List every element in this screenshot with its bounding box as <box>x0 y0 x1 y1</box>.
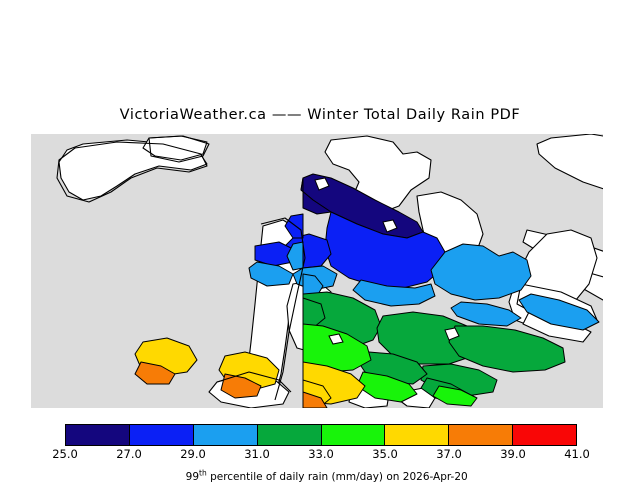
colorbar-segment-31.0-33.0[interactable] <box>258 425 322 445</box>
caption-suffix: percentile of daily rain (mm/day) on 202… <box>207 471 468 483</box>
caption-ordinal: th <box>199 469 207 478</box>
colorbar[interactable] <box>65 424 577 446</box>
colorbar-segment-35.0-37.0[interactable] <box>385 425 449 445</box>
colorbar-segment-37.0-39.0[interactable] <box>449 425 513 445</box>
colorbar-segments[interactable] <box>65 424 577 446</box>
map-canvas <box>31 134 603 408</box>
page-title: VictoriaWeather.ca —— Winter Total Daily… <box>0 107 640 123</box>
colorbar-segment-27.0-29.0[interactable] <box>130 425 194 445</box>
colorbar-segment-29.0-31.0[interactable] <box>194 425 258 445</box>
colorbar-segment-25.0-27.0[interactable] <box>66 425 130 445</box>
map-panel[interactable] <box>31 134 603 408</box>
colorbar-segment-39.0-41.0[interactable] <box>513 425 576 445</box>
weather-map-figure: VictoriaWeather.ca —— Winter Total Daily… <box>0 0 640 480</box>
colorbar-caption: 99th percentile of daily rain (mm/day) o… <box>0 459 640 495</box>
colorbar-segment-33.0-35.0[interactable] <box>322 425 386 445</box>
caption-prefix: 99 <box>186 471 199 483</box>
